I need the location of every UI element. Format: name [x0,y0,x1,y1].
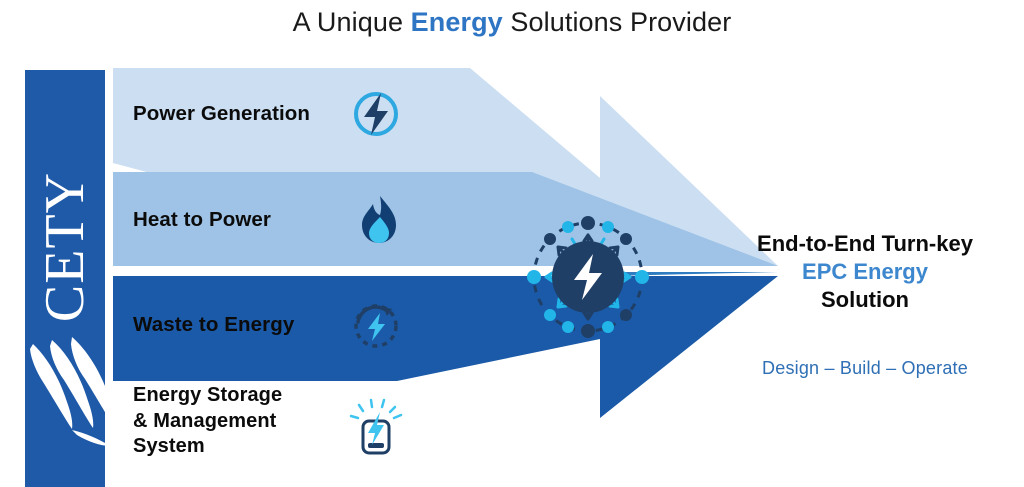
tagline: Design – Build – Operate [706,358,1024,379]
outcome-text-block: End-to-End Turn-key EPC Energy Solution [706,230,1024,314]
outcome-line-2: EPC Energy [706,258,1024,286]
slide-canvas: A Unique Energy Solutions Provider [0,0,1024,487]
energy-solutions-diagram: CETY Power Generation Heat to Power Wast… [0,44,1024,487]
band-label-waste-to-energy: Waste to Energy [133,312,294,338]
band-label-energy-storage: Energy Storage & Management System [133,383,282,460]
band-label-heat-to-power: Heat to Power [133,207,271,233]
outcome-line-3: Solution [706,286,1024,314]
outcome-line-1: End-to-End Turn-key [706,230,1024,258]
title-text-after: Solutions Provider [503,7,732,38]
title-text-before: A Unique [293,7,411,38]
band-label-power-generation: Power Generation [133,101,310,127]
page-title: A Unique Energy Solutions Provider [0,0,1024,44]
title-accent-word: Energy [411,7,503,38]
